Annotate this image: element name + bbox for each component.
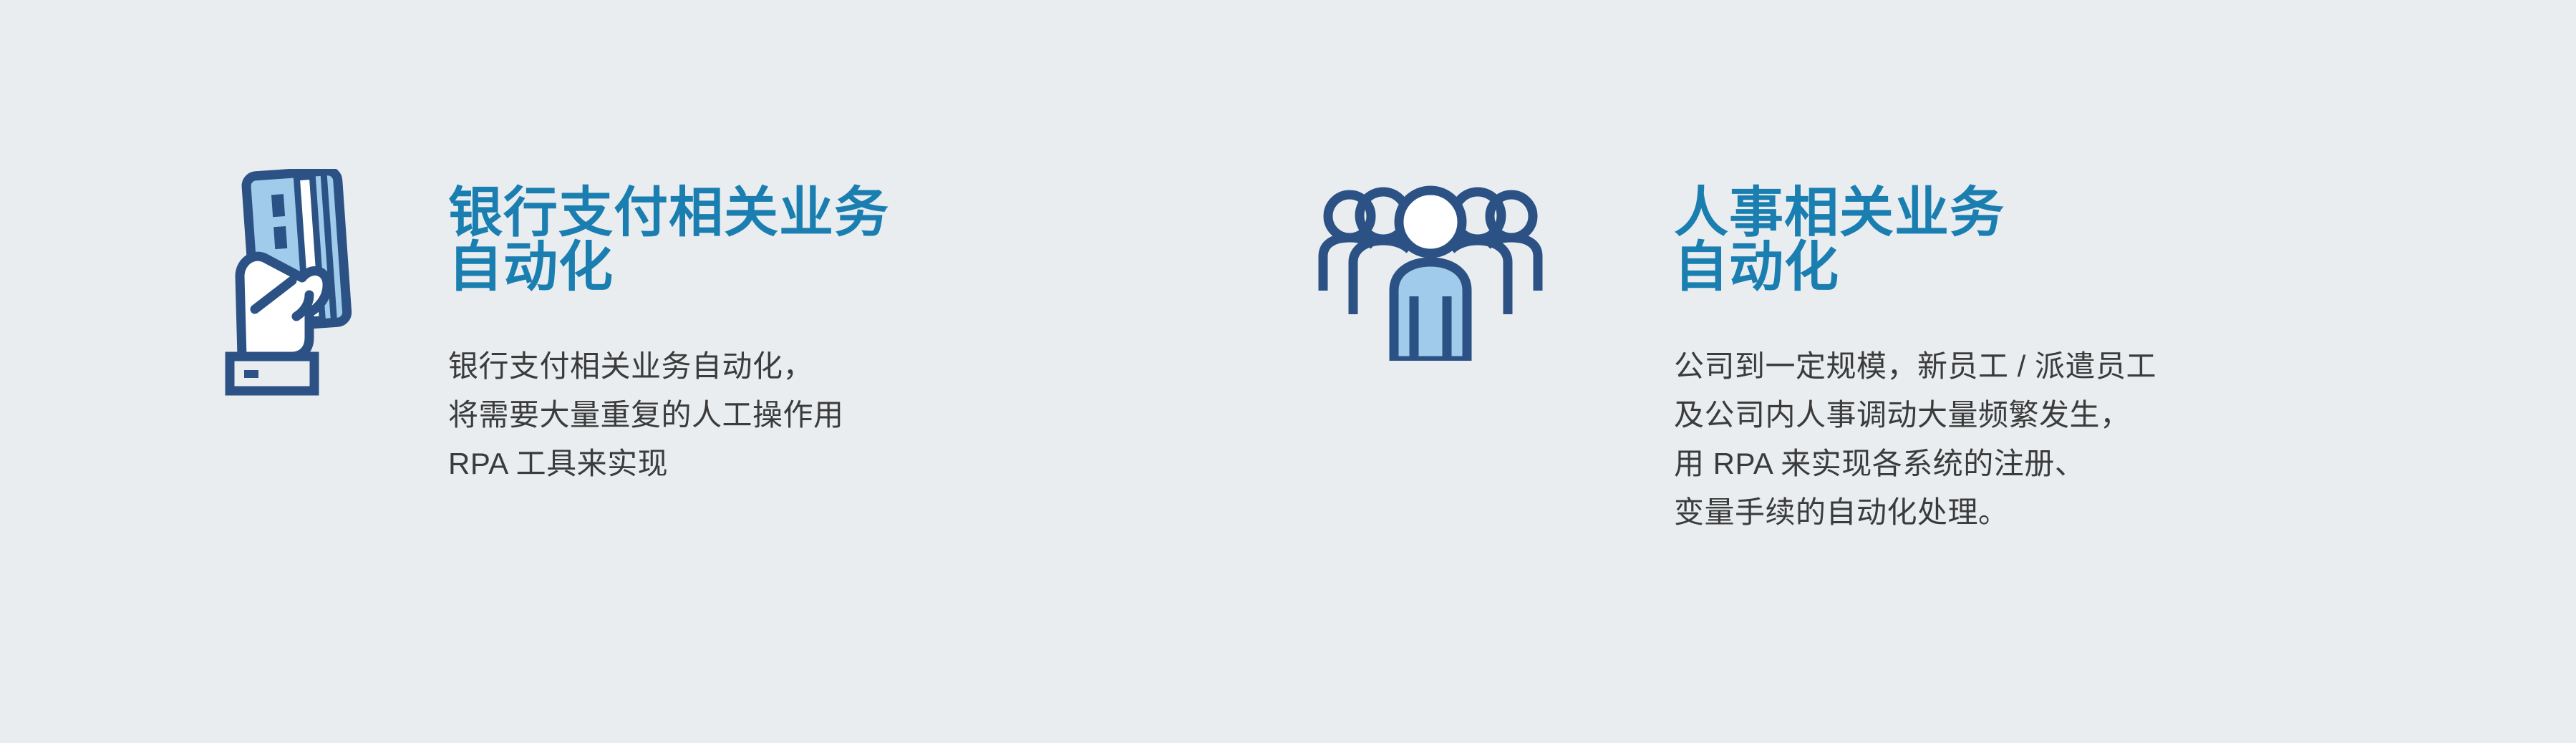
feature-heading: 人事相关业务 自动化 [1674,186,2433,295]
feature-highlights-board: 银行支付相关业务 自动化 银行支付相关业务自动化， 将需要大量重复的人工操作用 … [0,0,2576,743]
feature-text-block: 人事相关业务 自动化 公司到一定规模，新员工 / 派遣员工 及公司内人事调动大量… [1674,169,2433,537]
feature-heading: 银行支付相关业务 自动化 [448,186,1286,295]
hand-holding-credit-card-icon [212,169,377,398]
feature-card-bank-payment: 银行支付相关业务 自动化 银行支付相关业务自动化， 将需要大量重复的人工操作用 … [212,169,1286,488]
feature-card-hr: 人事相关业务 自动化 公司到一定规模，新员工 / 派遣员工 及公司内人事调动大量… [1316,169,2433,537]
feature-description: 银行支付相关业务自动化， 将需要大量重复的人工操作用 RPA 工具来实现 [448,342,1286,488]
feature-text-block: 银行支付相关业务 自动化 银行支付相关业务自动化， 将需要大量重复的人工操作用 … [448,169,1286,488]
group-of-people-icon [1316,182,1545,361]
feature-description: 公司到一定规模，新员工 / 派遣员工 及公司内人事调动大量频繁发生， 用 RPA… [1674,342,2433,537]
